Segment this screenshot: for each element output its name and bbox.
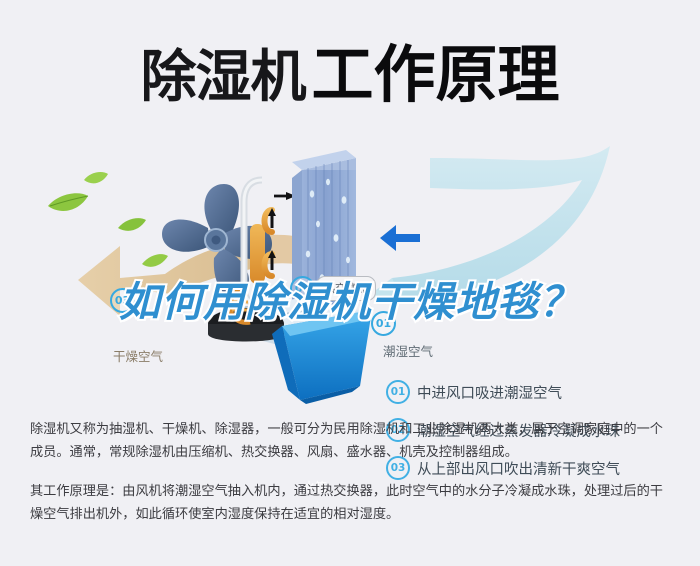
page-title-part1: 除湿机 xyxy=(140,45,305,110)
label-humid-air: 潮湿空气 xyxy=(383,341,433,360)
label-dry-air: 干燥空气 xyxy=(113,346,163,365)
heat-exchanger-callout: 热交换器 xyxy=(316,276,376,301)
diagram-badge-02: 02 xyxy=(290,276,315,301)
diagram-illustration xyxy=(0,128,700,410)
legend-badge-01: 01 xyxy=(386,380,410,404)
body-paragraph-2: 其工作原理是：由风机将潮湿空气抽入机内，通过热交换器，此时空气中的水分子冷凝成水… xyxy=(30,480,672,526)
dehumidifier-diagram: 热交换器 03 02 01 干燥空气 潮湿空气 水箱 01 中进风口吸进潮湿空气… xyxy=(0,128,700,410)
legend-item-01: 01 中进风口吸进潮湿空气 xyxy=(386,380,686,404)
inflow-arrow xyxy=(380,225,420,251)
leaf-decorations xyxy=(48,172,168,267)
article-body: 除湿机又称为抽湿机、干燥机、除湿器，一般可分为民用除湿机和工业除湿机两大类，属于… xyxy=(30,418,672,542)
diagram-badge-01: 01 xyxy=(371,311,396,336)
page-title: 除湿机工作原理 xyxy=(0,24,700,114)
page-title-part2: 工作原理 xyxy=(311,38,559,111)
diagram-badge-03: 03 xyxy=(110,288,135,313)
heat-exchanger-callout-label: 热交换器 xyxy=(324,282,368,295)
page-root: 除湿机工作原理 xyxy=(0,0,700,566)
legend-text-01: 中进风口吸进潮湿空气 xyxy=(417,382,562,403)
body-paragraph-1: 除湿机又称为抽湿机、干燥机、除湿器，一般可分为民用除湿机和工业除湿机两大类，属于… xyxy=(30,418,672,464)
